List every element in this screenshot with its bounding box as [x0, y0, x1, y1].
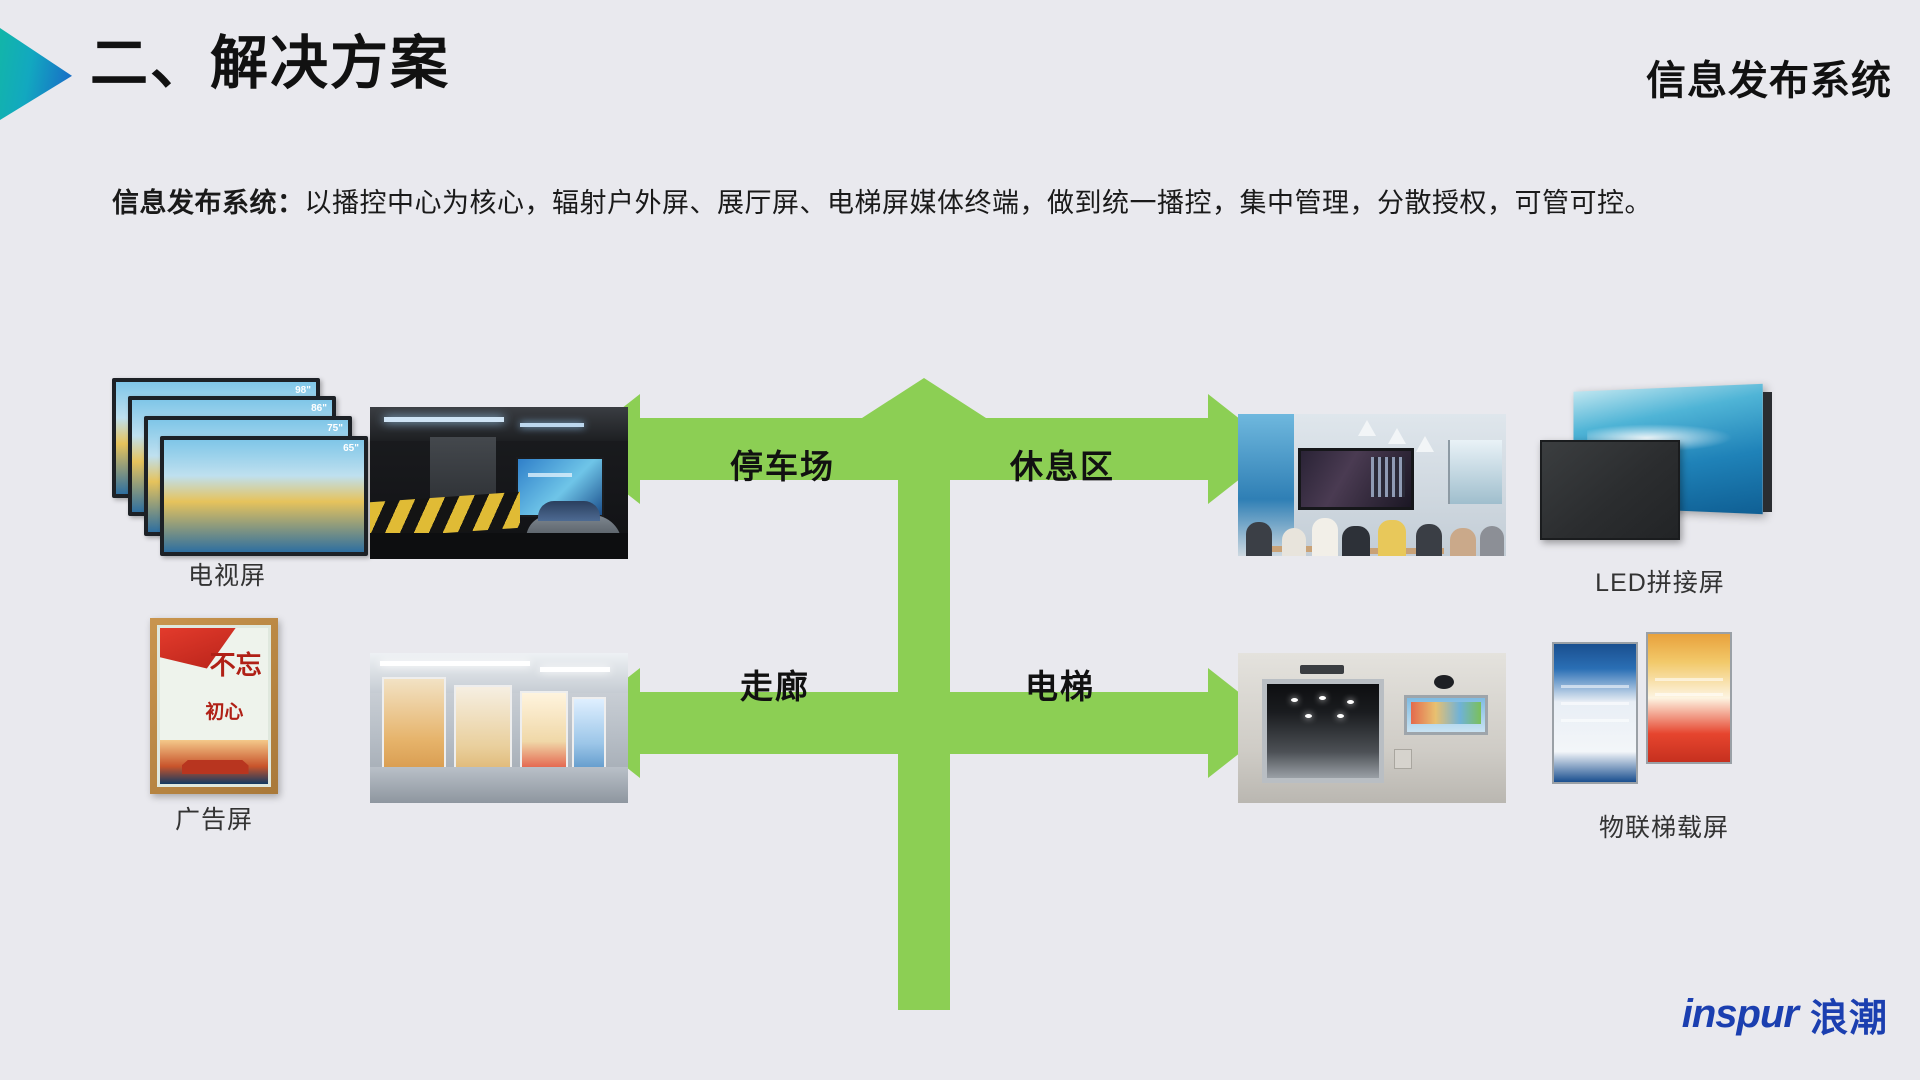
caption-tv: 电视屏: [112, 556, 342, 592]
header-right-title: 信息发布系统: [1646, 48, 1892, 106]
poster-building-icon: [160, 740, 268, 784]
rest-area-cafeteria-image: [1238, 414, 1506, 556]
direction-label-parking: 停车场: [730, 440, 835, 488]
caption-ad: 广告屏: [130, 800, 298, 836]
tv-stack-image: 98" 86" 75" 65": [112, 378, 342, 558]
header-accent-arrow-icon: [0, 28, 72, 120]
parking-garage-image: [370, 407, 628, 559]
body-paragraph: 信息发布系统：以播控中心为核心，辐射户外屏、展厅屏、电梯屏媒体终端，做到统一播控…: [112, 180, 1802, 227]
direction-label-elevator: 电梯: [1025, 660, 1095, 708]
led-video-wall-image: [1540, 388, 1782, 540]
body-lead: 信息发布系统：: [112, 188, 305, 218]
direction-label-corridor: 走廊: [740, 660, 810, 708]
advertising-poster-image: 不忘 初心: [150, 618, 278, 794]
direction-label-rest-area: 休息区: [1010, 440, 1115, 488]
poster-inner: 不忘 初心: [157, 625, 271, 787]
corridor-image: [370, 653, 628, 803]
body-description: 以播控中心为核心，辐射户外屏、展厅屏、电梯屏媒体终端，做到统一播控，集中管理，分…: [305, 188, 1653, 218]
slide-root: 二、解决方案 信息发布系统 信息发布系统：以播控中心为核心，辐射户外屏、展厅屏、…: [0, 0, 1920, 1080]
tv-size-label-75: 75": [327, 423, 343, 434]
tv-screen-65: 65": [160, 436, 368, 556]
iot-elevator-ad-screens-image: [1552, 632, 1752, 787]
ad-screen-left: [1552, 642, 1638, 784]
elevator-image: [1238, 653, 1506, 803]
caption-elevator: 物联梯载屏: [1530, 808, 1798, 844]
tv-size-label-98: 98": [295, 385, 311, 396]
inspur-logo: inspur 浪潮: [1682, 987, 1888, 1042]
poster-text-line1: 不忘: [210, 653, 262, 680]
logo-text-cn: 浪潮: [1810, 987, 1888, 1042]
poster-text-line2: 初心: [205, 697, 243, 724]
tv-size-label-86: 86": [311, 403, 327, 414]
logo-text-en: inspur: [1682, 992, 1798, 1037]
tv-size-label-65: 65": [343, 443, 359, 454]
led-front-module: [1540, 440, 1680, 540]
page-title: 二、解决方案: [90, 34, 450, 95]
ad-screen-right: [1646, 632, 1732, 764]
caption-led: LED拼接屏: [1530, 563, 1790, 599]
